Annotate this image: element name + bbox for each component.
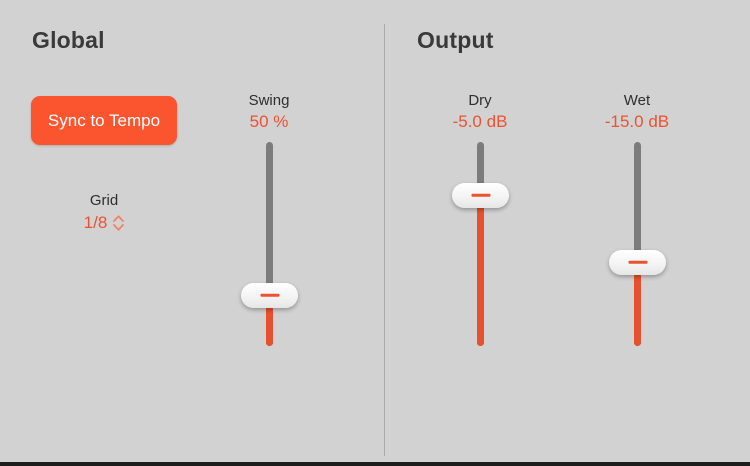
sync-to-tempo-button[interactable]: Sync to Tempo — [31, 96, 177, 145]
plugin-panel: Global Output Sync to Tempo Grid 1/8 — [0, 0, 750, 462]
dry-track-fill — [477, 195, 484, 346]
wet-thumb[interactable] — [609, 250, 666, 275]
grid-stepper-arrows[interactable] — [113, 215, 124, 231]
chevron-up-icon[interactable] — [113, 215, 124, 222]
swing-slider[interactable]: Swing 50 % — [209, 92, 329, 346]
dry-slider[interactable]: Dry -5.0 dB — [420, 92, 540, 346]
grid-label: Grid — [52, 192, 156, 209]
dry-value[interactable]: -5.0 dB — [420, 112, 540, 132]
window-bottom-edge — [0, 462, 750, 466]
grid-stepper-row[interactable]: 1/8 — [52, 213, 156, 233]
dry-label: Dry — [420, 92, 540, 109]
chevron-down-icon[interactable] — [113, 224, 124, 231]
swing-thumb[interactable] — [241, 283, 298, 308]
page-title-output: Output — [417, 27, 494, 54]
wet-label: Wet — [577, 92, 697, 109]
wet-slider[interactable]: Wet -15.0 dB — [577, 92, 697, 346]
dry-track-wrap[interactable] — [420, 142, 540, 346]
swing-label: Swing — [209, 92, 329, 109]
wet-value[interactable]: -15.0 dB — [577, 112, 697, 132]
grid-stepper[interactable]: Grid 1/8 — [52, 192, 156, 233]
wet-track-fill — [634, 262, 641, 346]
grid-value[interactable]: 1/8 — [84, 213, 108, 233]
page-title-global: Global — [32, 27, 105, 54]
section-divider — [384, 24, 385, 456]
dry-thumb[interactable] — [452, 183, 509, 208]
wet-track-wrap[interactable] — [577, 142, 697, 346]
swing-track-wrap[interactable] — [209, 142, 329, 346]
swing-value[interactable]: 50 % — [209, 112, 329, 132]
